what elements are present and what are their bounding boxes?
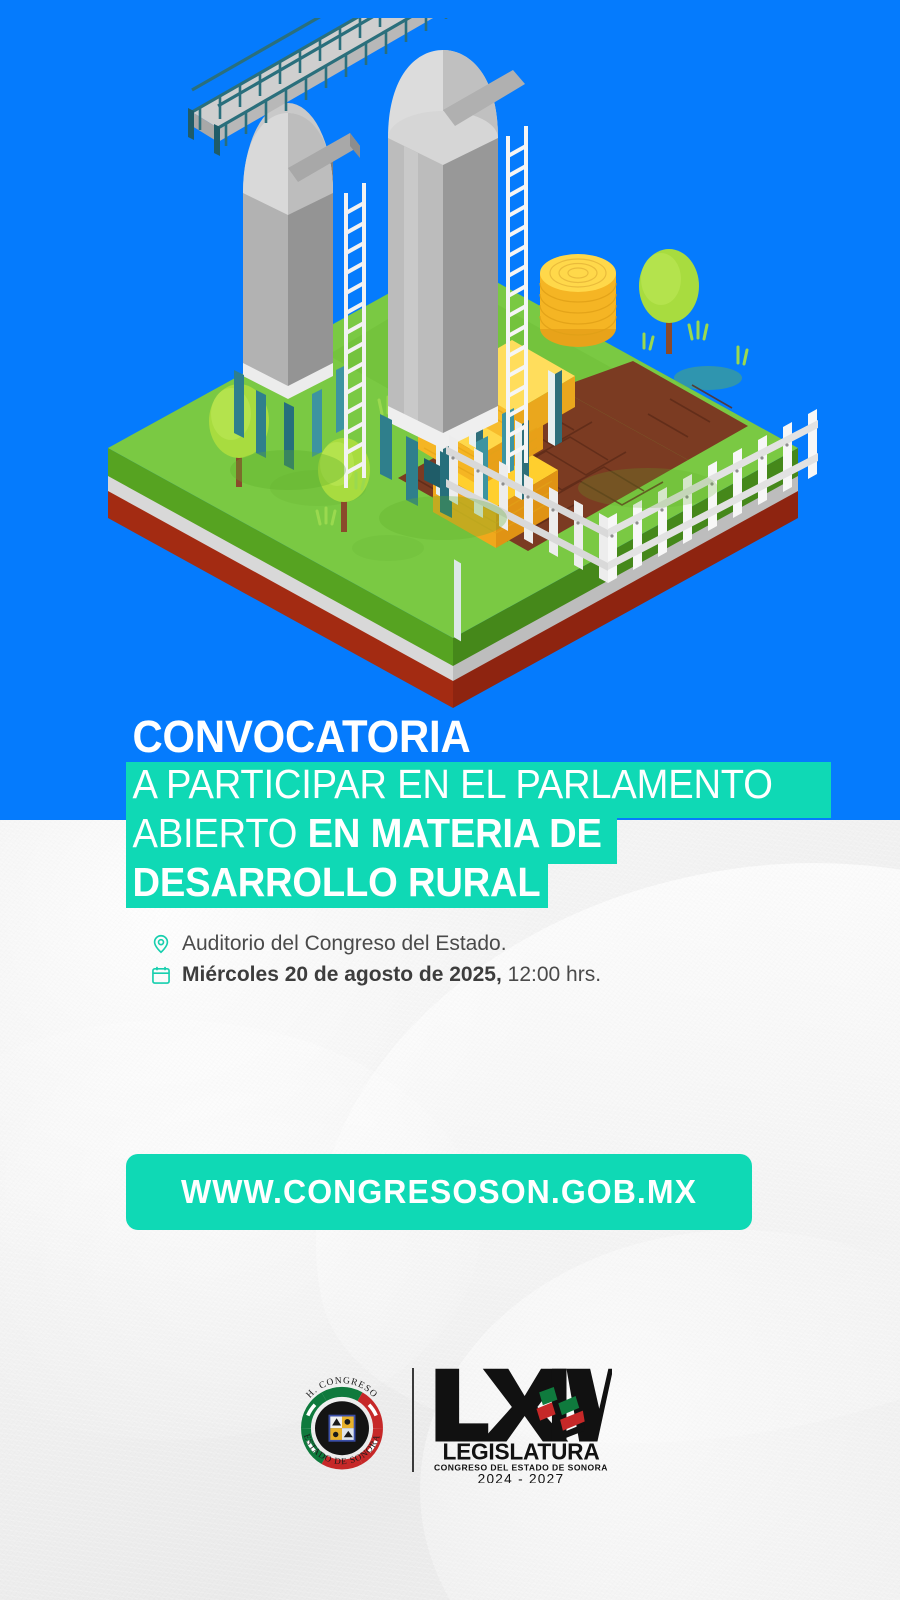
calendar-icon [150, 964, 172, 986]
lxiv-legislature-logo: LEGISLATURA CONGRESO DEL ESTADO DE SONOR… [430, 1356, 612, 1484]
legislature-word-text: LEGISLATURA [443, 1439, 600, 1465]
poster-root: CONVOCATORIA A PARTICIPAR EN EL PARLAMEN… [0, 0, 900, 1600]
headline-lines: A PARTICIPAR EN EL PARLAMENTO ABIERTO EN… [126, 760, 866, 907]
date-time-part: 12:00 hrs. [502, 963, 601, 986]
legislature-years-text: 2024 - 2027 [478, 1471, 565, 1483]
date-text: Miércoles 20 de agosto de 2025, 12:00 hr… [182, 963, 601, 987]
website-url-button[interactable]: WWW.CONGRESOSON.GOB.MX [126, 1154, 752, 1230]
date-row: Miércoles 20 de agosto de 2025, 12:00 hr… [150, 959, 770, 990]
website-url-label: WWW.CONGRESOSON.GOB.MX [181, 1173, 697, 1211]
congress-seal-icon: H. CONGRESO ESTADO DE SONORA [288, 1358, 396, 1483]
headline-line-abierto: ABIERTO EN MATERIA DE [126, 809, 814, 858]
location-text: Auditorio del Congreso del Estado. [182, 932, 507, 956]
date-bold-part: Miércoles 20 de agosto de 2025, [182, 963, 502, 986]
headline-abierto-bold: EN MATERIA DE [308, 810, 602, 856]
map-pin-icon [150, 933, 172, 955]
headline-line-convocatoria: CONVOCATORIA [126, 712, 814, 762]
headline-abierto-light: ABIERTO [133, 810, 308, 856]
event-details: Auditorio del Congreso del Estado. Miérc… [150, 928, 770, 990]
headline: CONVOCATORIA [126, 712, 866, 762]
location-row: Auditorio del Congreso del Estado. [150, 928, 770, 959]
headline-line-participar: A PARTICIPAR EN EL PARLAMENTO [126, 760, 814, 809]
headline-line-desarrollo: DESARROLLO RURAL [126, 858, 814, 907]
footer-logos: H. CONGRESO ESTADO DE SONORA [0, 1330, 900, 1510]
isometric-farm-silos-illustration [88, 18, 818, 708]
footer-divider [412, 1368, 414, 1472]
